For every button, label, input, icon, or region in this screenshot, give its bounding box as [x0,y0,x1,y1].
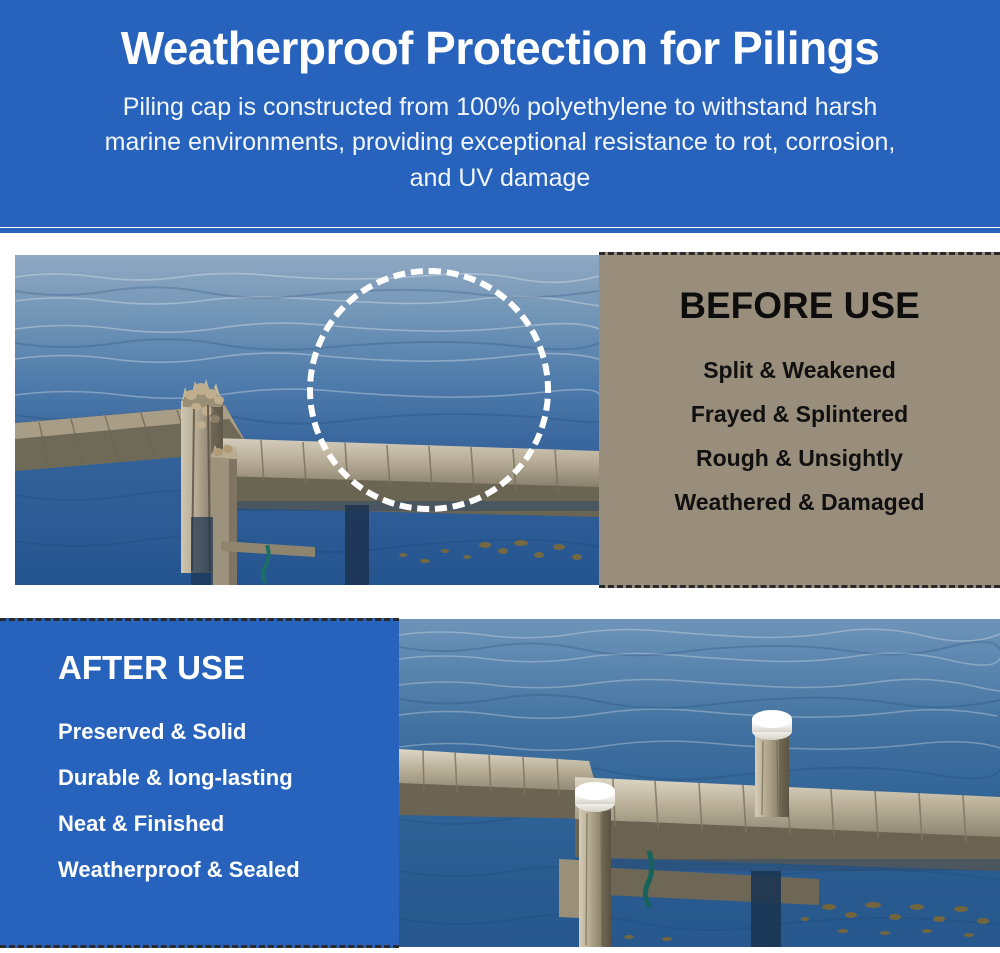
before-use-heading: BEFORE USE [599,255,1000,327]
list-item: Weatherproof & Sealed [58,847,399,893]
piling-with-cap-back [752,710,792,817]
list-item: Split & Weakened [599,349,1000,393]
list-item: Rough & Unsightly [599,437,1000,481]
dashed-circle-highlight-icon [307,268,551,512]
list-item: Neat & Finished [58,801,399,847]
after-photo-artwork [399,619,1000,947]
list-item: Durable & long-lasting [58,755,399,801]
page-title: Weatherproof Protection for Pilings [0,24,1000,74]
before-use-section: BEFORE USE Split & Weakened Frayed & Spl… [0,252,1000,588]
list-item: Frayed & Splintered [599,393,1000,437]
before-use-panel: BEFORE USE Split & Weakened Frayed & Spl… [599,252,1000,588]
list-item: Preserved & Solid [58,709,399,755]
piling-with-cap-front [575,782,615,947]
before-use-list: Split & Weakened Frayed & Splintered Rou… [599,327,1000,525]
after-use-list: Preserved & Solid Durable & long-lasting… [0,687,399,893]
before-use-photo [15,255,599,585]
after-use-section: AFTER USE Preserved & Solid Durable & lo… [0,618,1000,948]
after-use-heading: AFTER USE [0,621,399,687]
header-divider-rule [0,228,1000,233]
after-use-panel: AFTER USE Preserved & Solid Durable & lo… [0,618,399,948]
after-use-photo [399,619,1000,947]
header-banner: Weatherproof Protection for Pilings Pili… [0,0,1000,227]
list-item: Weathered & Damaged [599,481,1000,525]
header-subtitle: Piling cap is constructed from 100% poly… [90,90,910,197]
